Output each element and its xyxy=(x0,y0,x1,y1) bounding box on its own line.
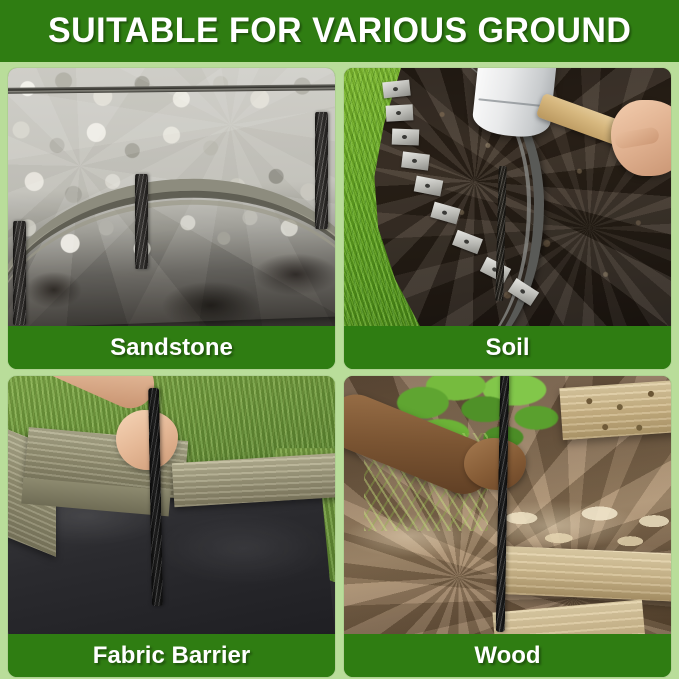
panel-label: Soil xyxy=(485,334,529,362)
panel-label: Sandstone xyxy=(110,334,233,362)
label-bar-wood: Wood xyxy=(344,634,671,677)
edging-tab xyxy=(392,129,420,146)
edging-tab xyxy=(401,151,430,170)
panel-wood[interactable]: Wood xyxy=(344,376,671,677)
panel-grid: Sandstone xyxy=(8,68,671,671)
panel-sandstone[interactable]: Sandstone xyxy=(8,68,335,369)
photo-fabric-barrier xyxy=(8,376,335,634)
wood-board xyxy=(559,380,671,440)
panel-soil[interactable]: Soil xyxy=(344,68,671,369)
panel-label: Fabric Barrier xyxy=(93,642,250,670)
rebar-stake xyxy=(13,221,26,325)
wood-board xyxy=(501,546,671,602)
rebar-stake xyxy=(315,112,328,229)
photo-wood xyxy=(344,376,671,634)
photo-sandstone xyxy=(8,68,335,326)
label-bar-sandstone: Sandstone xyxy=(8,326,335,369)
label-bar-soil: Soil xyxy=(344,326,671,369)
rebar-stake xyxy=(135,174,148,269)
label-bar-fabric-barrier: Fabric Barrier xyxy=(8,634,335,677)
edging-tab xyxy=(382,80,411,99)
page-title: SUITABLE FOR VARIOUS GROUND xyxy=(48,11,631,51)
panel-label: Wood xyxy=(474,642,540,670)
hand xyxy=(464,438,526,490)
edging-tab xyxy=(386,104,414,121)
product-feature-graphic: SUITABLE FOR VARIOUS GROUND Sandstone xyxy=(0,0,679,679)
panel-fabric-barrier[interactable]: Fabric Barrier xyxy=(8,376,335,677)
fabric-folds xyxy=(8,487,335,634)
photo-soil xyxy=(344,68,671,326)
header-banner: SUITABLE FOR VARIOUS GROUND xyxy=(0,0,679,62)
